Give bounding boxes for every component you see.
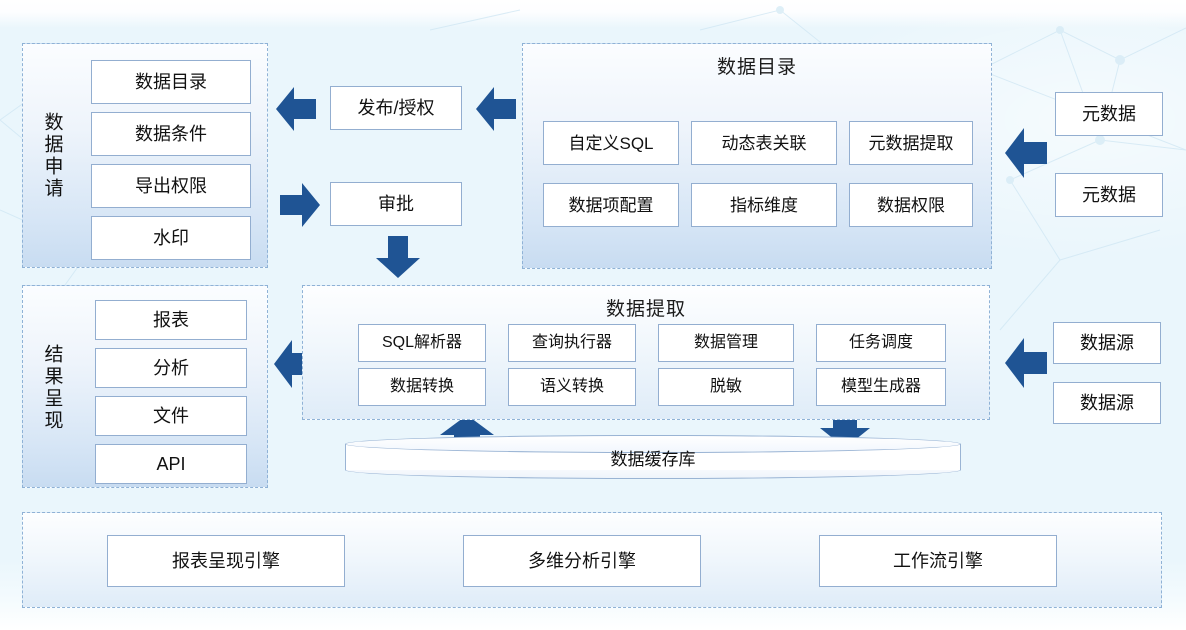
data-application-item-3[interactable]: 水印 [91, 216, 251, 260]
arrow-application-to-approve [280, 180, 320, 230]
result-presentation-item-3[interactable]: API [95, 444, 247, 484]
data-extraction-title: 数据提取 [303, 294, 989, 321]
arrow-datasource-to-extraction [1005, 335, 1047, 391]
data-application-caption: 数据申请 [31, 60, 73, 252]
data-catalog-item-2[interactable]: 元数据提取 [849, 121, 973, 165]
data-application-item-2[interactable]: 导出权限 [91, 164, 251, 208]
publish-authorize-box[interactable]: 发布/授权 [330, 86, 462, 130]
engine-item-2[interactable]: 工作流引擎 [819, 535, 1057, 587]
result-presentation-caption: 结果呈现 [31, 300, 73, 475]
arrow-catalog-to-publish [476, 84, 516, 134]
arrow-publish-to-application [276, 84, 316, 134]
data-source-0[interactable]: 数据源 [1053, 322, 1161, 364]
data-extraction-item-4[interactable]: 数据转换 [358, 368, 486, 406]
arrow-approve-to-extraction [372, 236, 424, 278]
data-source-1[interactable]: 数据源 [1053, 382, 1161, 424]
data-cache-cylinder[interactable]: 数据缓存库 [345, 435, 961, 481]
data-catalog-item-4[interactable]: 指标维度 [691, 183, 837, 227]
engines-panel: 报表呈现引擎 多维分析引擎 工作流引擎 [22, 512, 1162, 608]
data-extraction-item-1[interactable]: 查询执行器 [508, 324, 636, 362]
data-application-item-0[interactable]: 数据目录 [91, 60, 251, 104]
data-extraction-item-3[interactable]: 任务调度 [816, 324, 946, 362]
data-extraction-item-6[interactable]: 脱敏 [658, 368, 794, 406]
data-catalog-panel: 数据目录 自定义SQL 动态表关联 元数据提取 数据项配置 指标维度 数据权限 [522, 43, 992, 269]
result-presentation-item-0[interactable]: 报表 [95, 300, 247, 340]
data-catalog-title: 数据目录 [523, 52, 991, 79]
data-cache-label: 数据缓存库 [345, 435, 961, 479]
data-extraction-item-0[interactable]: SQL解析器 [358, 324, 486, 362]
diagram-canvas: 数据申请 数据目录 数据条件 导出权限 水印 结果呈现 报表 分析 文件 API… [0, 0, 1186, 630]
data-extraction-item-7[interactable]: 模型生成器 [816, 368, 946, 406]
engine-item-0[interactable]: 报表呈现引擎 [107, 535, 345, 587]
data-extraction-item-5[interactable]: 语义转换 [508, 368, 636, 406]
data-extraction-panel: 数据提取 SQL解析器 查询执行器 数据管理 任务调度 数据转换 语义转换 脱敏… [302, 285, 990, 420]
result-presentation-panel: 结果呈现 报表 分析 文件 API [22, 285, 268, 488]
metadata-source-0[interactable]: 元数据 [1055, 92, 1163, 136]
data-catalog-item-5[interactable]: 数据权限 [849, 183, 973, 227]
result-presentation-item-2[interactable]: 文件 [95, 396, 247, 436]
data-extraction-item-2[interactable]: 数据管理 [658, 324, 794, 362]
metadata-source-1[interactable]: 元数据 [1055, 173, 1163, 217]
engine-item-1[interactable]: 多维分析引擎 [463, 535, 701, 587]
data-application-item-1[interactable]: 数据条件 [91, 112, 251, 156]
data-catalog-item-0[interactable]: 自定义SQL [543, 121, 679, 165]
approve-box[interactable]: 审批 [330, 182, 462, 226]
data-catalog-item-3[interactable]: 数据项配置 [543, 183, 679, 227]
result-presentation-item-1[interactable]: 分析 [95, 348, 247, 388]
data-catalog-item-1[interactable]: 动态表关联 [691, 121, 837, 165]
arrow-metadata-to-catalog [1005, 125, 1047, 181]
data-application-panel: 数据申请 数据目录 数据条件 导出权限 水印 [22, 43, 268, 268]
